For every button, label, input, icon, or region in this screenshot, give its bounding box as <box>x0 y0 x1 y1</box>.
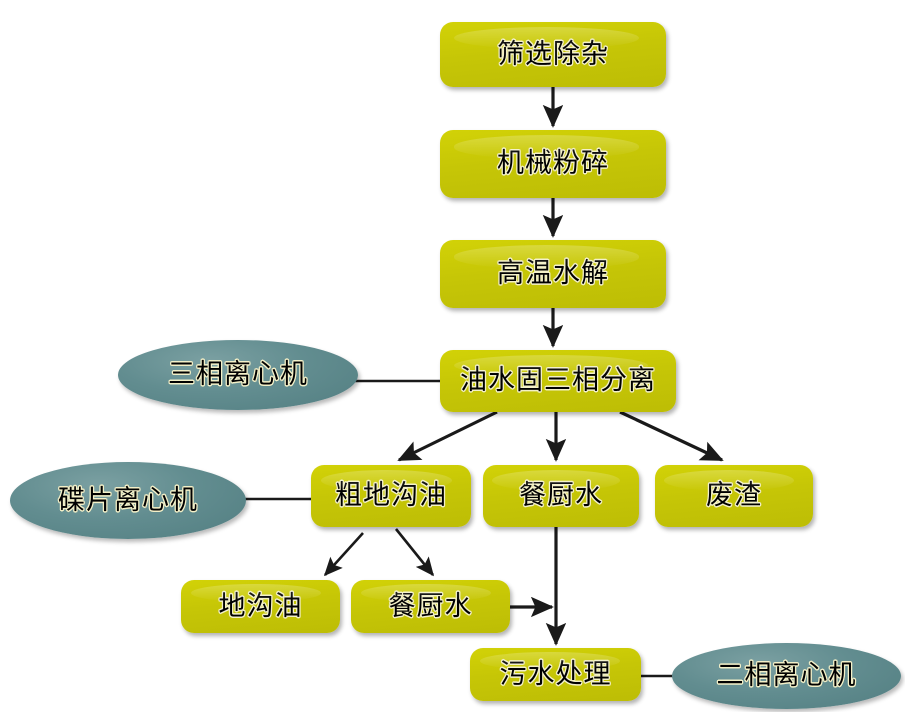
node-crush-label: 机械粉碎 <box>497 149 609 179</box>
edge-crudeoil-to-kwater2 <box>396 529 433 575</box>
node-crude-gutter-oil-label: 粗地沟油 <box>335 481 447 511</box>
node-disc-centrifuge[interactable]: 碟片离心机 <box>10 462 246 539</box>
node-three-phase-centrifuge[interactable]: 三相离心机 <box>118 340 358 410</box>
node-gutter-oil-label: 地沟油 <box>219 592 303 622</box>
edge-crudeoil-to-gutteroil <box>325 533 363 575</box>
node-triphase-separation[interactable]: 油水固三相分离 <box>440 350 676 412</box>
node-hydrolyze-label: 高温水解 <box>497 259 609 289</box>
node-waste-residue-label: 废渣 <box>706 481 762 511</box>
node-kitchen-water-lower[interactable]: 餐厨水 <box>351 580 510 633</box>
node-two-phase-centrifuge[interactable]: 二相离心机 <box>672 643 901 709</box>
node-disc-centrifuge-label: 碟片离心机 <box>58 486 198 516</box>
node-kitchen-water-upper[interactable]: 餐厨水 <box>483 465 639 527</box>
node-sewage-treatment[interactable]: 污水处理 <box>470 648 641 701</box>
node-kitchen-water-lower-label: 餐厨水 <box>389 592 473 622</box>
node-screen-label: 筛选除杂 <box>497 40 609 70</box>
node-gutter-oil[interactable]: 地沟油 <box>181 580 340 633</box>
edge-triphase-to-residue <box>620 412 722 460</box>
node-three-phase-centrifuge-label: 三相离心机 <box>168 360 308 390</box>
node-two-phase-centrifuge-label: 二相离心机 <box>717 661 857 691</box>
node-sewage-treatment-label: 污水处理 <box>500 660 612 690</box>
node-waste-residue[interactable]: 废渣 <box>655 465 813 527</box>
node-kitchen-water-upper-label: 餐厨水 <box>519 481 603 511</box>
node-hydrolyze[interactable]: 高温水解 <box>440 240 666 308</box>
edge-triphase-to-crudeoil <box>399 412 497 460</box>
flowchart-canvas: 筛选除杂 机械粉碎 高温水解 油水固三相分离 粗地沟油 餐厨水 废渣 地沟油 餐… <box>0 0 905 712</box>
node-crush[interactable]: 机械粉碎 <box>440 130 666 198</box>
node-screen[interactable]: 筛选除杂 <box>440 22 666 87</box>
node-crude-gutter-oil[interactable]: 粗地沟油 <box>311 465 471 527</box>
node-triphase-separation-label: 油水固三相分离 <box>460 366 656 396</box>
